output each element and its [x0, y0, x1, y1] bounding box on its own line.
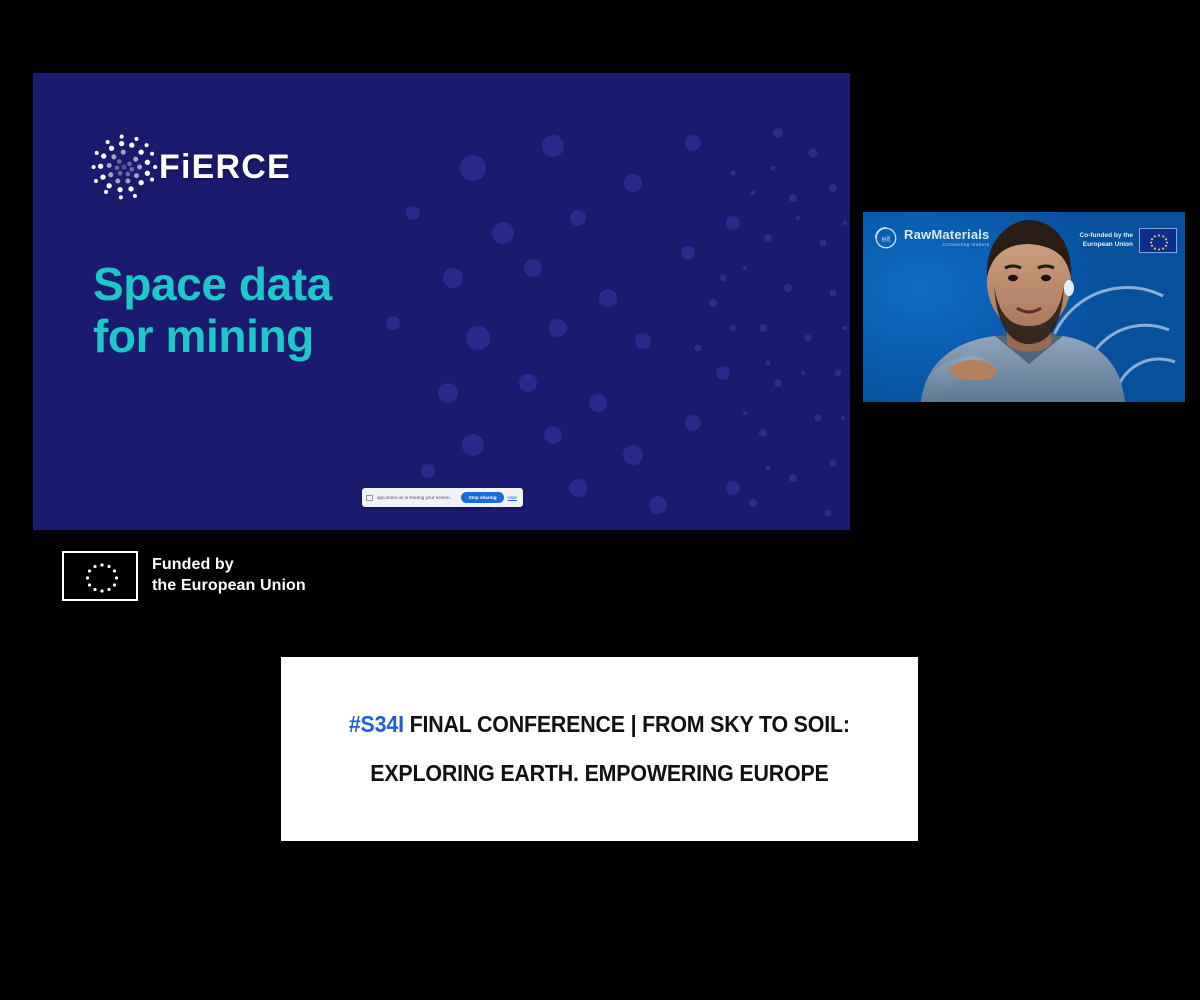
fierce-wordmark: FiERCE	[159, 148, 291, 187]
screen-share-icon	[366, 495, 373, 501]
presenter-webcam-tile[interactable]: eit RawMaterials Connecting matters Co-f…	[863, 212, 1185, 402]
shared-screen-slide[interactable]: FiERCE Space data for mining app.zoom.us…	[33, 73, 850, 530]
cofunded-line1: Co-funded by the	[1080, 232, 1133, 240]
eit-rawmaterials-logo: eit RawMaterials Connecting matters	[873, 225, 990, 251]
cofunded-line2: European Union	[1080, 241, 1133, 249]
caption-line-1: #S34I FINAL CONFERENCE | FROM SKY TO SOI…	[349, 711, 850, 738]
conference-caption-banner: #S34I FINAL CONFERENCE | FROM SKY TO SOI…	[281, 657, 918, 841]
cofunded-text: Co-funded by the European Union	[1080, 232, 1133, 248]
stop-sharing-button[interactable]: Stop sharing	[461, 492, 503, 503]
screen-share-view: FiERCE Space data for mining app.zoom.us…	[0, 0, 1200, 1000]
fierce-logo: FiERCE	[85, 128, 291, 206]
hide-link[interactable]: Hide	[508, 495, 519, 500]
eu-funding-line2: the European Union	[152, 576, 306, 597]
caption-hashtag: #S34I	[349, 711, 404, 737]
eit-tagline: Connecting matters	[904, 244, 990, 249]
screen-share-notification-bar[interactable]: app.zoom.us is sharing your screen. Stop…	[362, 488, 523, 507]
svg-text:eit: eit	[882, 234, 891, 243]
slide-headline-line1: Space data	[93, 258, 332, 310]
eu-funding-text: Funded by the European Union	[152, 555, 306, 597]
caption-line1-rest: FINAL CONFERENCE | FROM SKY TO SOIL:	[404, 711, 850, 737]
slide-headline-line2: for mining	[93, 310, 332, 362]
eit-wordmark-group: RawMaterials Connecting matters	[904, 228, 990, 249]
fierce-spiral-dots-icon	[85, 128, 163, 206]
eit-name: RawMaterials	[904, 228, 990, 241]
eit-circle-icon: eit	[873, 225, 899, 251]
eu-funding-line1: Funded by	[152, 555, 306, 576]
eu-stars-circle-icon	[62, 551, 138, 601]
eu-funding-badge: Funded by the European Union	[62, 551, 306, 601]
caption-line-2: EXPLORING EARTH. EMPOWERING EUROPE	[370, 760, 828, 787]
slide-headline: Space data for mining	[93, 258, 332, 363]
share-message: app.zoom.us is sharing your screen.	[377, 495, 457, 500]
eu-flag-icon	[1139, 228, 1177, 253]
cofunded-eu-badge: Co-funded by the European Union	[1080, 228, 1177, 253]
